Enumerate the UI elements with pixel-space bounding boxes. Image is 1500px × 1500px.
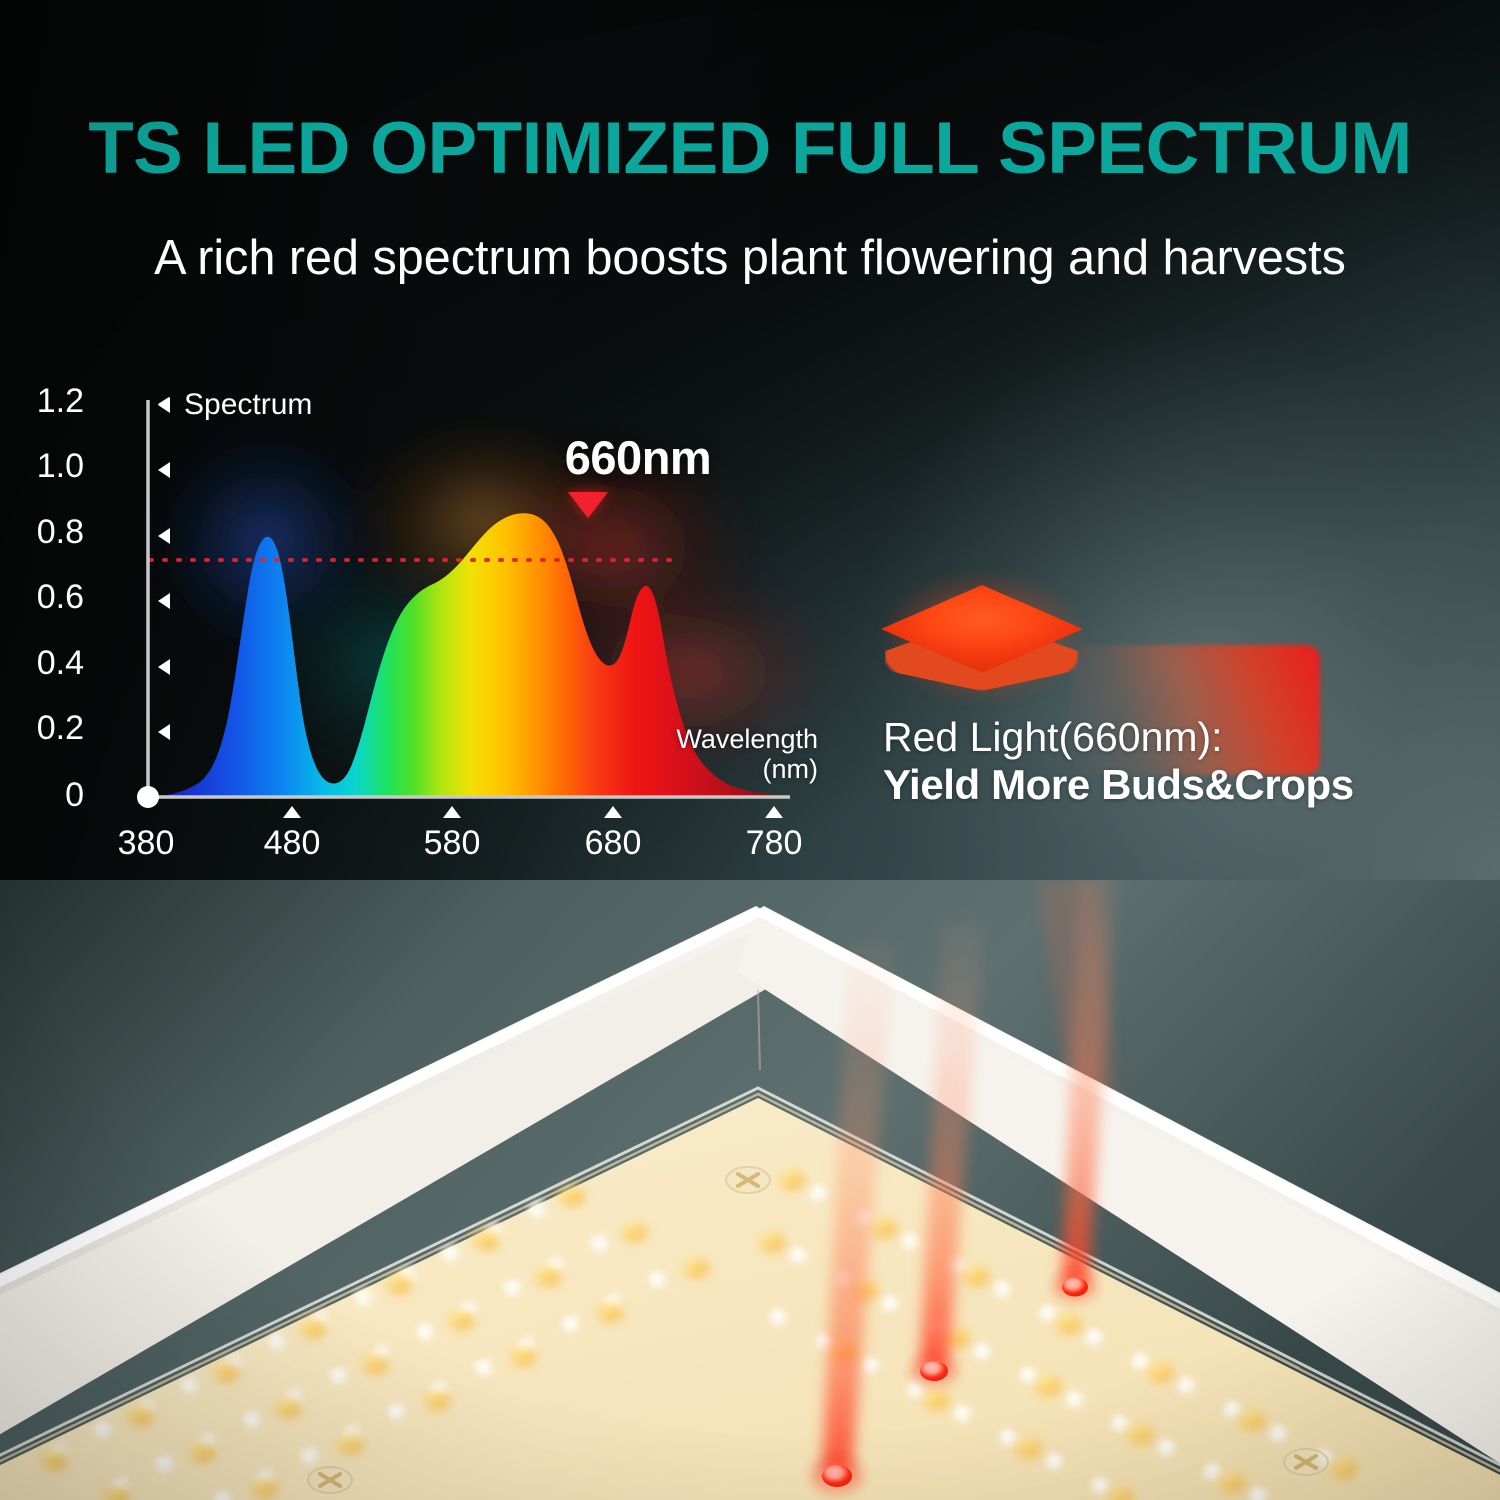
vignette-overlay [0, 0, 1500, 1500]
poster-canvas: TS LED OPTIMIZED FULL SPECTRUM A rich re… [0, 0, 1500, 1500]
